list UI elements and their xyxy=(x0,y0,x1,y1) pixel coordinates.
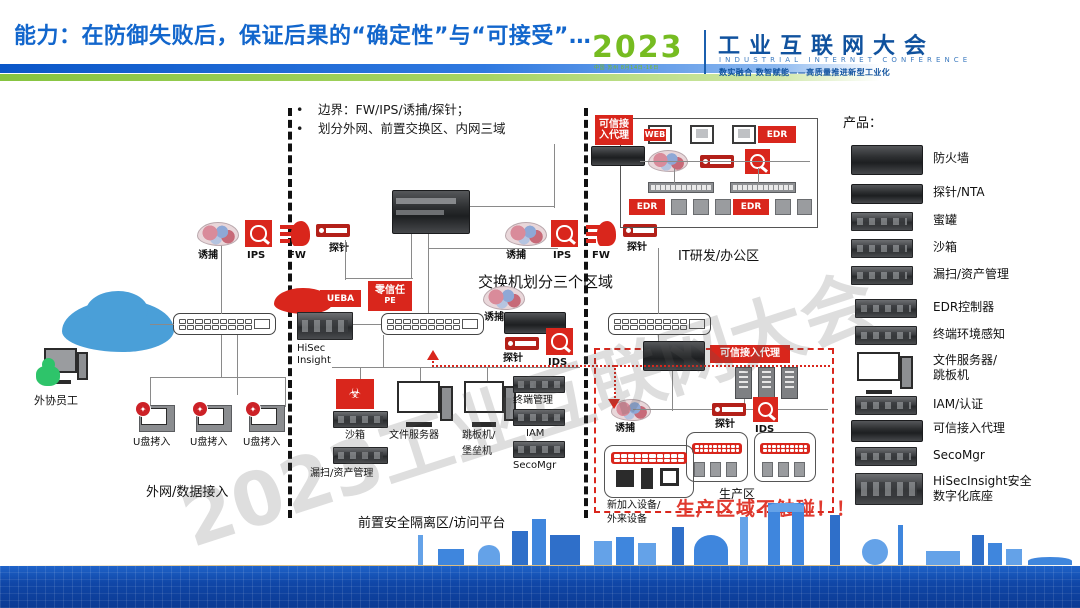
warning-no-touch-production: 生产区域不触碰！！ xyxy=(676,494,856,521)
bullet-list: 边界：FW/IPS/诱捕/探针； 划分外网、前置交换区、内网三域 xyxy=(296,100,506,138)
chip-trusted-access-top: 可信接 入代理 xyxy=(595,115,633,145)
skyline-sea xyxy=(0,566,1080,608)
logo-divider xyxy=(704,30,706,74)
chip-trusted-access-top-l2: 入代理 xyxy=(599,130,629,141)
legend-icon-honeypot-icon xyxy=(851,212,913,231)
threat-path-arrow-down-icon xyxy=(608,399,620,409)
label-terminal-mgmt: 终端管理 xyxy=(513,395,553,407)
legend-label-1: 探针/NTA xyxy=(933,185,985,200)
office-endpoint-2-icon xyxy=(693,199,709,215)
page-title: 能力：在防御失败后，保证后果的“确定性”与“可接受”… xyxy=(14,18,591,50)
iam-device-icon xyxy=(513,409,565,426)
chip-ueba: UEBA xyxy=(320,290,361,307)
honeypot-left-icon xyxy=(197,222,239,246)
legend-icon-edr-controller-icon xyxy=(855,299,917,318)
skyline-factory-1 xyxy=(512,531,528,565)
link-office-bus xyxy=(640,161,810,162)
office-endpoint-3-icon xyxy=(715,199,731,215)
label-new-devices-1: 新加入设备/ xyxy=(607,500,660,512)
label-honeypot-left: 诱捕 xyxy=(198,250,218,262)
virus-badge-3-icon: ✦ xyxy=(246,402,260,416)
label-hisec-insight-1: HiSec xyxy=(297,343,325,355)
label-fw-mid: FW xyxy=(592,250,610,262)
threat-path-horizontal xyxy=(432,365,830,367)
switch-external xyxy=(173,313,276,335)
link-office-sw-right-up xyxy=(758,168,759,183)
outsourced-staff-avatar-head-icon xyxy=(42,358,55,371)
chip-trusted-access-prod: 可信接入代理 xyxy=(710,345,790,363)
legend-icon-secomgr-icon xyxy=(855,447,917,466)
skyline-solar xyxy=(926,551,960,565)
virus-badge-2-icon: ✦ xyxy=(193,402,207,416)
trusted-access-appliance-top-icon xyxy=(591,146,645,166)
skyline-pump xyxy=(438,549,464,565)
link-production-fw-down xyxy=(672,371,673,411)
legend-label-8: IAM/认证 xyxy=(933,397,983,412)
bullet-item-1: 划分外网、前置交换区、内网三域 xyxy=(296,119,506,138)
logo-year: 2023 xyxy=(592,30,684,65)
zone-label-external: 外网/数据接入 xyxy=(146,481,228,500)
label-honeypot-production: 诱捕 xyxy=(615,423,635,435)
link-extsw-branch xyxy=(150,377,286,378)
label-jump-server-1: 跳板机/ xyxy=(462,430,495,442)
link-office-riser xyxy=(554,144,555,208)
legend-icon-firewall-appliance-icon xyxy=(851,145,923,175)
sandbox-badge-icon: ☣ xyxy=(336,379,374,409)
production-server-1-icon xyxy=(735,367,752,399)
ids-inner-icon xyxy=(546,328,573,355)
skyline-block-2 xyxy=(988,543,1002,565)
jump-server-icon xyxy=(464,381,516,427)
skyline-tower-thin xyxy=(740,517,748,565)
label-usb-copy-3: U盘拷入 xyxy=(243,437,280,449)
link-extsw-down xyxy=(221,335,222,377)
switch-dmz xyxy=(381,313,484,335)
vuln-scan-device-icon xyxy=(333,447,388,464)
hisec-insight-icon xyxy=(297,312,353,340)
legend-icon-workstation-icon xyxy=(857,352,913,394)
skyline-crane-3 xyxy=(638,543,656,565)
slide-canvas: 能力：在防御失败后，保证后果的“确定性”与“可接受”… 2023 中国·苏州 8… xyxy=(0,0,1080,608)
legend-label-11: HiSecInsight安全 数字化底座 xyxy=(933,474,1032,504)
label-fw-left: FW xyxy=(288,250,306,262)
logo-year-subtitle: 中国·苏州 8月14日-16日 xyxy=(594,64,659,71)
skyline-ferris xyxy=(862,539,888,565)
virus-badge-1-icon: ✦ xyxy=(136,402,150,416)
label-secomgr: SecoMgr xyxy=(513,460,556,472)
core-firewall-face xyxy=(396,198,456,204)
legend-icon-rack-stack-icon xyxy=(855,473,923,505)
legend-icon-vuln-scan-icon xyxy=(851,266,913,285)
probe-production-icon xyxy=(712,403,746,416)
link-branch-left xyxy=(150,377,151,407)
chip-edr-top: EDR xyxy=(758,126,796,143)
office-switch-left-icon xyxy=(648,182,714,193)
probe-inner-icon xyxy=(505,337,539,350)
slide-header: 能力：在防御失败后，保证后果的“确定性”与“可接受”… 2023 中国·苏州 8… xyxy=(0,0,1080,86)
footer-skyline xyxy=(0,518,1080,608)
office-endpoint-4-icon xyxy=(775,199,791,215)
production-server-3-icon xyxy=(781,367,798,399)
label-ips-left: IPS xyxy=(247,250,265,262)
skyline-factory-3 xyxy=(550,535,580,565)
legend-icon-sandbox-icon xyxy=(851,239,913,258)
legend-label-9: 可信接入代理 xyxy=(933,421,1005,436)
core-firewall-face2 xyxy=(396,210,444,215)
production-cell-2-switch-icon xyxy=(760,443,810,454)
link-core-down-1 xyxy=(411,234,412,278)
label-file-server: 文件服务器 xyxy=(389,430,439,442)
label-vuln-scan: 漏扫/资产管理 xyxy=(310,468,373,480)
production-cell-1-node-2-icon xyxy=(710,462,721,477)
link-dmz-bus xyxy=(332,367,580,368)
probe-left-icon xyxy=(316,224,350,237)
terminal-mgmt-device-icon xyxy=(513,376,565,393)
office-monitor-3-icon xyxy=(732,125,756,144)
legend-label-10: SecoMgr xyxy=(933,448,985,463)
conference-logo: 2023 中国·苏州 8月14日-16日 工业互联网大会 INDUSTRIAL … xyxy=(592,28,1062,80)
office-endpoint-1-icon xyxy=(671,199,687,215)
ips-left-icon xyxy=(245,220,272,247)
label-hisec-insight-2: Insight xyxy=(297,355,331,367)
skyline-bridge xyxy=(1028,557,1072,565)
production-cell-2-node-1-icon xyxy=(762,462,773,477)
skyline-eiffel xyxy=(830,515,840,565)
chip-zero-trust-sub: PE xyxy=(384,296,395,306)
label-probe-inner: 探针 xyxy=(503,353,523,365)
chip-edr-right: EDR xyxy=(733,199,769,215)
ips-mid-icon xyxy=(551,220,578,247)
threat-path-vertical-right xyxy=(614,365,616,401)
skyline-factory-2 xyxy=(532,519,546,565)
file-server-icon xyxy=(397,381,453,427)
production-cell-2-node-3-icon xyxy=(794,462,805,477)
zone-label-it-office: IT研发/办公区 xyxy=(678,245,759,264)
link-core-to-office xyxy=(470,206,555,207)
office-switch-right-icon xyxy=(730,182,796,193)
legend-label-7: 文件服务器/ 跳板机 xyxy=(933,353,997,383)
internet-cloud-lobe xyxy=(86,291,148,325)
legend-label-3: 沙箱 xyxy=(933,240,957,255)
label-ips-mid: IPS xyxy=(553,250,571,262)
chip-web: WEB xyxy=(644,129,666,141)
link-core-riser-left xyxy=(345,240,346,280)
firewall-left-icon xyxy=(280,220,310,247)
firewall-mid-icon xyxy=(586,220,616,247)
production-cell-1-node-3-icon xyxy=(726,462,737,477)
legend-label-2: 蜜罐 xyxy=(933,213,957,228)
skyline-dome xyxy=(694,535,728,565)
threat-path-arrow-icon xyxy=(427,350,439,360)
label-sandbox: 沙箱 xyxy=(345,430,365,442)
legend-icon-probe-appliance-icon xyxy=(851,184,923,204)
switch-internal xyxy=(608,313,711,335)
skyline-valve xyxy=(478,545,500,565)
honeypot-mid-icon xyxy=(505,222,547,246)
skyline-turbine xyxy=(898,525,903,565)
link-cloud-to-external-switch xyxy=(150,324,174,325)
legend-label-4: 漏扫/资产管理 xyxy=(933,267,1009,282)
production-server-2-icon xyxy=(758,367,775,399)
label-probe-mid: 探针 xyxy=(627,242,647,254)
sandbox-device-icon xyxy=(333,411,388,428)
link-core-right xyxy=(428,248,558,249)
logo-title-en: INDUSTRIAL INTERNET CONFERENCE xyxy=(719,56,971,64)
label-usb-copy-2: U盘拷入 xyxy=(190,437,227,449)
production-cell-1-node-1-icon xyxy=(694,462,705,477)
new-device-tower-icon xyxy=(641,468,653,489)
skyline-crane-2 xyxy=(616,537,634,565)
legend-icon-trusted-access-icon xyxy=(851,420,923,442)
link-extsw-down-2 xyxy=(237,335,238,395)
skyline-block-1 xyxy=(972,535,984,565)
link-office-sw-left-up xyxy=(674,168,675,183)
chip-trusted-access-top-l1: 可信接 xyxy=(599,119,629,130)
link-branch-right xyxy=(285,377,286,407)
link-hisec-to-dmzsw xyxy=(353,324,381,325)
new-device-monitor-icon xyxy=(616,470,634,487)
label-probe-production: 探针 xyxy=(715,419,735,431)
skyline-derrick xyxy=(418,535,423,565)
ids-production-icon xyxy=(753,397,778,422)
label-outsourced-staff: 外协员工 xyxy=(34,395,78,407)
label-ids-inner: IDS xyxy=(548,357,567,369)
new-devices-switch-icon xyxy=(611,452,687,464)
chip-zero-trust: 零信任 PE xyxy=(368,281,412,311)
label-honeypot-mid: 诱捕 xyxy=(506,250,526,262)
chip-zero-trust-label: 零信任 xyxy=(375,286,405,296)
label-jump-server-2: 堡垒机 xyxy=(462,446,492,458)
link-dmzsw-down xyxy=(383,335,384,367)
office-endpoint-5-icon xyxy=(797,199,812,215)
skyline-gate-left xyxy=(768,503,780,565)
legend-label-0: 防火墙 xyxy=(933,151,969,166)
skyline-gate-top xyxy=(768,503,804,512)
skyline-pagoda xyxy=(672,527,684,565)
honeypot-inner-icon xyxy=(483,286,525,310)
legend-icon-terminal-awareness-icon xyxy=(855,326,917,345)
skyline-block-3 xyxy=(1006,549,1022,565)
label-usb-copy-1: U盘拷入 xyxy=(133,437,170,449)
zone-divider-right xyxy=(584,108,588,518)
production-cell-1-switch-icon xyxy=(692,443,742,454)
legend-title: 产品： xyxy=(843,112,882,131)
bullet-item-0: 边界：FW/IPS/诱捕/探针； xyxy=(296,100,506,119)
legend-label-6: 终端环境感知 xyxy=(933,327,1005,342)
link-core-down-2 xyxy=(428,234,429,314)
legend-label-5: EDR控制器 xyxy=(933,300,994,315)
label-iam: IAM xyxy=(526,428,544,440)
link-core-left xyxy=(345,278,413,279)
office-monitor-2-icon xyxy=(690,125,714,144)
link-internal-sw-up xyxy=(658,248,659,314)
logo-slogan: 数实融合 数智赋能——高质量推进新型工业化 xyxy=(719,67,890,78)
skyline-gate-right xyxy=(792,503,804,565)
new-device-screen-icon xyxy=(660,468,679,486)
label-honeypot-inner: 诱捕 xyxy=(484,312,504,324)
chip-edr-left: EDR xyxy=(629,199,665,215)
secomgr-device-icon xyxy=(513,441,565,458)
skyline-crane-1 xyxy=(594,541,612,565)
production-cell-2-node-2-icon xyxy=(778,462,789,477)
legend-icon-iam-icon xyxy=(855,396,917,415)
